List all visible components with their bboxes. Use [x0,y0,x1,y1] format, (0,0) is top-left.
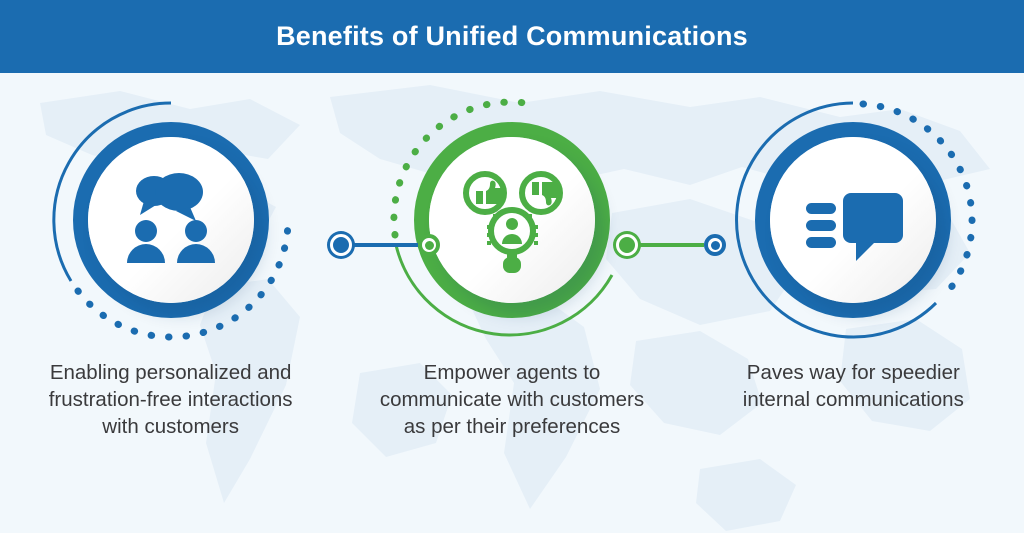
connector-1-2 [330,232,440,258]
badge-personalized-interactions [46,95,296,345]
connector-node-filled-green [616,234,638,256]
benefit-caption: Enabling personalized and frustration-fr… [38,359,303,440]
badge-empower-agents [387,95,637,345]
benefit-item-personalized-interactions[interactable]: Enabling personalized and frustration-fr… [0,73,341,533]
page-title: Benefits of Unified Communications [276,21,748,52]
connector-line [638,243,704,247]
benefit-item-empower-agents[interactable]: Empower agents to communicate with custo… [341,73,682,533]
benefit-item-speedier-internal-communications[interactable]: Paves way for speedier internal communic… [683,73,1024,533]
benefits-row: Enabling personalized and frustration-fr… [0,73,1024,533]
connector-line [352,243,418,247]
connector-2-3 [616,232,726,258]
connector-node-ring-blue [704,234,726,256]
chat-bubble-lines-icon [798,165,908,275]
connector-node-ring-green [418,234,440,256]
icon-disc [770,137,936,303]
feedback-search-person-icon [457,165,567,275]
two-people-speech-bubbles-icon [116,165,226,275]
icon-disc [429,137,595,303]
badge-speedier-internal-communications [728,95,978,345]
infographic-canvas: Benefits of Unified Communications [0,0,1024,533]
header-bar: Benefits of Unified Communications [0,0,1024,73]
benefit-caption: Paves way for speedier internal communic… [721,359,986,413]
benefit-caption: Empower agents to communicate with custo… [379,359,644,440]
connector-node-filled-blue [330,234,352,256]
icon-disc [88,137,254,303]
